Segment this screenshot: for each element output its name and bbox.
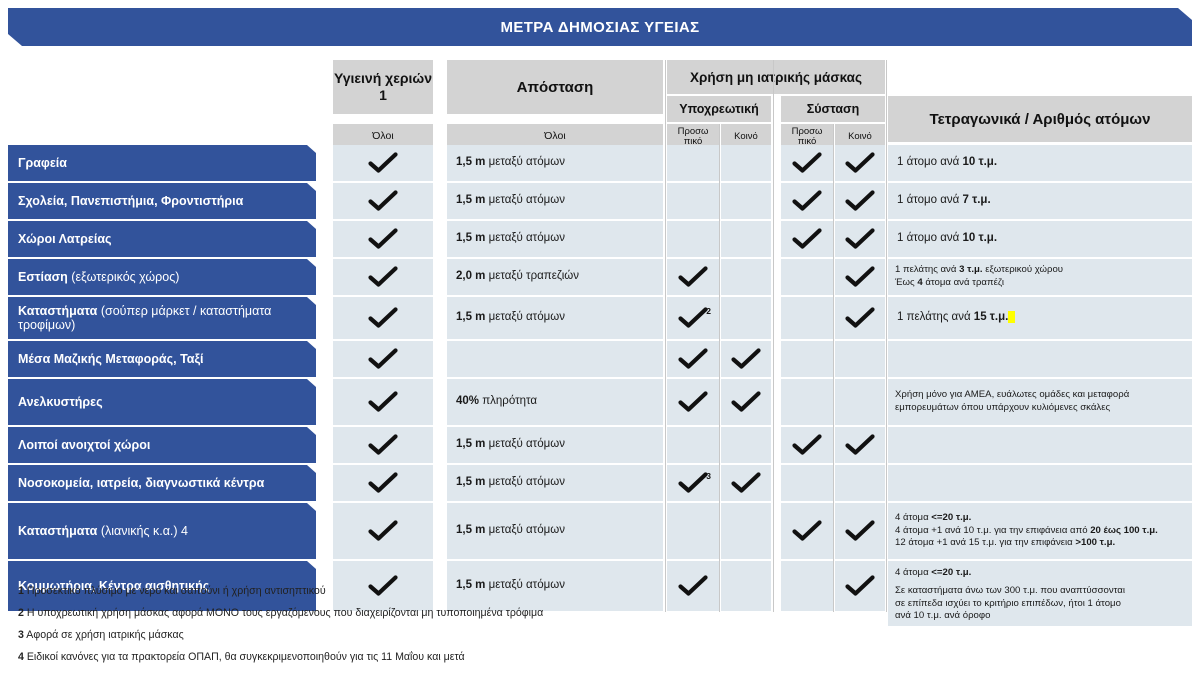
row-label-text: Νοσοκομεία, ιατρεία, διαγνωστικά κέντρα <box>18 476 264 490</box>
page-title: ΜΕΤΡΑ ΔΗΜΟΣΙΑΣ ΥΓΕΙΑΣ <box>500 19 699 36</box>
cell-distance: 40% πληρότητα <box>447 379 663 425</box>
mask-block-rule-right <box>886 60 887 612</box>
header-distance-label: Απόσταση <box>517 79 594 96</box>
header-area-persons: Τετραγωνικά / Αριθμός ατόμων <box>888 96 1192 142</box>
cell-hand-hygiene <box>333 183 433 219</box>
cell-mask-recommended-public <box>835 183 885 219</box>
cell-area-persons-text: 1 άτομο ανά 7 τ.μ. <box>897 193 991 209</box>
header-area-persons-label: Τετραγωνικά / Αριθμός ατόμων <box>930 111 1151 128</box>
cell-mask-mandatory-staff: 3 <box>667 465 719 501</box>
cell-distance-text: 1,5 m μεταξύ ατόμων <box>456 523 565 539</box>
area-footer-line: σε επίπεδα ισχύει το κριτήριο επιπέδων, … <box>895 598 1192 611</box>
header-mask-group-label: Χρήση μη ιατρικής μάσκας <box>690 70 862 85</box>
cell-distance: 1,5 m μεταξύ ατόμων <box>447 503 663 559</box>
cell-mask-mandatory-public <box>721 183 771 219</box>
measures-table: Υγιεινή χεριών 1 Απόσταση Χρήση μη ιατρι… <box>0 52 1200 632</box>
cell-distance-text: 1,5 m μεταξύ ατόμων <box>456 310 565 326</box>
row-label[interactable]: Ανελκυστήρες <box>8 379 316 425</box>
cell-area-persons: 1 άτομο ανά 7 τ.μ. <box>888 183 1192 219</box>
cell-hand-hygiene <box>333 379 433 425</box>
footnote-text: Ειδικοί κανόνες για τα πρακτορεία ΟΠΑΠ, … <box>27 651 465 663</box>
header-hand-hygiene-label: Υγιεινή χεριών 1 <box>333 70 433 105</box>
cell-distance: 1,5 m μεταξύ ατόμων <box>447 183 663 219</box>
check-icon: 2 <box>678 307 708 329</box>
cell-area-persons: 1 άτομο ανά 10 τ.μ. <box>888 221 1192 257</box>
check-icon <box>792 520 822 542</box>
cell-distance: 2,0 m μεταξύ τραπεζιών <box>447 259 663 295</box>
subheader-recommended-public-label: Κοινό <box>848 132 872 142</box>
cell-area-persons <box>888 465 1192 501</box>
cell-mask-mandatory-public <box>721 297 771 339</box>
footnotes: 1 Προσεκτικό πλύσιμο με νερό και σαπούνι… <box>18 585 658 673</box>
row-label[interactable]: Λοιποί ανοιχτοί χώροι <box>8 427 316 463</box>
header-mask-mandatory-label: Υποχρεωτική <box>679 102 758 116</box>
check-icon <box>845 434 875 456</box>
cell-hand-hygiene <box>333 221 433 257</box>
row-label-text: Ανελκυστήρες <box>18 395 103 409</box>
cell-mask-recommended-public <box>835 561 885 611</box>
page-title-banner: ΜΕΤΡΑ ΔΗΜΟΣΙΑΣ ΥΓΕΙΑΣ <box>8 8 1192 46</box>
cell-mask-recommended-public <box>835 259 885 295</box>
cell-area-persons: 1 πελάτης ανά 3 τ.μ. εξωτερικού χώρουΈως… <box>888 259 1192 295</box>
cell-mask-mandatory-staff <box>667 183 719 219</box>
row-label[interactable]: Καταστήματα (λιανικής κ.α.) 4 <box>8 503 316 559</box>
subheader-hands-all-label: Όλοι <box>372 131 393 142</box>
cell-mask-recommended-public <box>835 221 885 257</box>
footnote-item: 4 Ειδικοί κανόνες για τα πρακτορεία ΟΠΑΠ… <box>18 651 658 663</box>
check-icon <box>845 228 875 250</box>
header-distance: Απόσταση <box>447 60 663 114</box>
check-icon <box>731 348 761 370</box>
cell-area-persons-text: 1 άτομο ανά 10 τ.μ. <box>897 231 997 247</box>
cell-area-persons: Χρήση μόνο για ΑΜΕΑ, ευάλωτες ομάδες και… <box>888 379 1192 425</box>
cell-mask-recommended-public <box>835 297 885 339</box>
cell-mask-mandatory-staff <box>667 561 719 611</box>
mask-block-rule-mid3 <box>833 124 834 612</box>
cell-mask-recommended-public <box>835 465 885 501</box>
check-icon <box>368 520 398 542</box>
header-mask-recommended: Σύσταση <box>781 96 885 122</box>
cell-distance: 1,5 m μεταξύ ατόμων <box>447 297 663 339</box>
cell-hand-hygiene <box>333 145 433 181</box>
check-icon: 3 <box>678 472 708 494</box>
row-label-text: Χώροι Λατρείας <box>18 232 112 246</box>
row-label[interactable]: Χώροι Λατρείας <box>8 221 316 257</box>
check-icon <box>845 520 875 542</box>
check-icon <box>368 228 398 250</box>
cell-area-persons <box>888 427 1192 463</box>
check-icon <box>731 472 761 494</box>
header-hand-hygiene: Υγιεινή χεριών 1 <box>333 60 433 114</box>
footnote-item: 1 Προσεκτικό πλύσιμο με νερό και σαπούνι… <box>18 585 658 597</box>
cell-mask-recommended-staff <box>781 259 833 295</box>
cell-mask-recommended-public <box>835 341 885 377</box>
cell-area-persons: 4 άτομα <=20 τ.μ.4 άτομα +1 ανά 10 τ.μ. … <box>888 503 1192 559</box>
cell-mask-recommended-public <box>835 503 885 559</box>
check-icon <box>368 266 398 288</box>
check-icon <box>368 391 398 413</box>
row-label-text: Σχολεία, Πανεπιστήμια, Φροντιστήρια <box>18 194 243 208</box>
subheader-mandatory-staff-label: Προσω πικό <box>667 127 719 147</box>
cell-mask-mandatory-staff: 2 <box>667 297 719 339</box>
footnote-number: 4 <box>18 651 24 663</box>
row-label-text: Λοιποί ανοιχτοί χώροι <box>18 438 150 452</box>
check-icon <box>678 348 708 370</box>
cell-distance <box>447 341 663 377</box>
check-icon <box>731 391 761 413</box>
row-label-text: Εστίαση (εξωτερικός χώρος) <box>18 270 179 284</box>
cell-mask-mandatory-public <box>721 221 771 257</box>
check-icon <box>368 307 398 329</box>
cell-area-persons: 1 πελάτης ανά 15 τ.μ. <box>888 297 1192 339</box>
cell-hand-hygiene <box>333 341 433 377</box>
check-icon <box>368 472 398 494</box>
cell-distance: 1,5 m μεταξύ ατόμων <box>447 221 663 257</box>
cell-mask-mandatory-staff <box>667 221 719 257</box>
check-icon <box>845 575 875 597</box>
cell-mask-mandatory-public <box>721 145 771 181</box>
cell-mask-mandatory-staff <box>667 427 719 463</box>
cell-distance-text: 1,5 m μεταξύ ατόμων <box>456 193 565 209</box>
row-label[interactable]: Νοσοκομεία, ιατρεία, διαγνωστικά κέντρα <box>8 465 316 501</box>
cell-distance-text: 1,5 m μεταξύ ατόμων <box>456 475 565 491</box>
check-icon <box>678 266 708 288</box>
cell-mask-mandatory-public <box>721 379 771 425</box>
highlight-marker <box>1008 311 1014 323</box>
cell-hand-hygiene <box>333 465 433 501</box>
header-mask-mandatory: Υποχρεωτική <box>667 96 771 122</box>
cell-distance: 1,5 m μεταξύ ατόμων <box>447 145 663 181</box>
row-label-text: Γραφεία <box>18 156 67 170</box>
row-label[interactable]: Μέσα Μαζικής Μεταφοράς, Ταξί <box>8 341 316 377</box>
row-label-text: Μέσα Μαζικής Μεταφοράς, Ταξί <box>18 352 204 366</box>
cell-mask-recommended-staff <box>781 183 833 219</box>
cell-hand-hygiene <box>333 259 433 295</box>
footnote-number: 2 <box>18 607 24 619</box>
cell-mask-mandatory-staff <box>667 259 719 295</box>
check-icon <box>845 307 875 329</box>
cell-distance-text: 1,5 m μεταξύ ατόμων <box>456 155 565 171</box>
cell-mask-recommended-staff <box>781 561 833 611</box>
row-label-text: Καταστήματα (λιανικής κ.α.) 4 <box>18 524 188 538</box>
cell-hand-hygiene <box>333 297 433 339</box>
cell-hand-hygiene <box>333 427 433 463</box>
cell-mask-mandatory-public <box>721 503 771 559</box>
area-footer-line: ανά 10 τ.μ. ανά όροφο <box>895 610 1192 623</box>
check-icon <box>678 575 708 597</box>
cell-distance: 1,5 m μεταξύ ατόμων <box>447 427 663 463</box>
subheader-recommended-staff-label: Προσω πικό <box>781 127 833 147</box>
footnote-text: Αφορά σε χρήση ιατρικής μάσκας <box>26 629 183 641</box>
cell-mask-recommended-public <box>835 145 885 181</box>
cell-mask-recommended-staff <box>781 465 833 501</box>
cell-mask-mandatory-staff <box>667 379 719 425</box>
cell-mask-mandatory-staff <box>667 341 719 377</box>
cell-mask-recommended-public <box>835 379 885 425</box>
area-footer-line: Σε καταστήματα άνω των 300 τ.μ. που αναπ… <box>895 585 1192 598</box>
cell-mask-recommended-staff <box>781 145 833 181</box>
row-label[interactable]: Εστίαση (εξωτερικός χώρος) <box>8 259 316 295</box>
area-footer-note: Σε καταστήματα άνω των 300 τ.μ. που αναπ… <box>888 580 1192 626</box>
cell-mask-recommended-staff <box>781 341 833 377</box>
row-label[interactable]: Καταστήματα (σούπερ μάρκετ / καταστήματα… <box>8 297 316 339</box>
footnote-number: 3 <box>18 629 24 641</box>
footnote-text: Προσεκτικό πλύσιμο με νερό και σαπούνι ή… <box>27 585 326 597</box>
row-label[interactable]: Σχολεία, Πανεπιστήμια, Φροντιστήρια <box>8 183 316 219</box>
cell-mask-mandatory-public <box>721 465 771 501</box>
row-label-text: Καταστήματα (σούπερ μάρκετ / καταστήματα… <box>18 304 316 332</box>
cell-area-persons-text: 1 πελάτης ανά 3 τ.μ. εξωτερικού χώρουΈως… <box>895 264 1063 289</box>
mask-block-rule-mid2 <box>773 60 774 612</box>
cell-distance-text: 1,5 m μεταξύ ατόμων <box>456 437 565 453</box>
cell-mask-recommended-staff <box>781 379 833 425</box>
subheader-mandatory-public-label: Κοινό <box>734 132 758 142</box>
cell-mask-recommended-staff <box>781 427 833 463</box>
footnote-text: Η υποχρεωτική χρήση μάσκας αφορά ΜΟΝΟ το… <box>27 607 543 619</box>
check-icon <box>368 348 398 370</box>
check-icon <box>845 190 875 212</box>
cell-distance: 1,5 m μεταξύ ατόμων <box>447 465 663 501</box>
check-icon <box>368 190 398 212</box>
cell-area-persons-text: 4 άτομα <=20 τ.μ.4 άτομα +1 ανά 10 τ.μ. … <box>895 512 1158 550</box>
cell-area-persons-text: 1 πελάτης ανά 15 τ.μ. <box>897 310 1015 326</box>
row-label[interactable]: Γραφεία <box>8 145 316 181</box>
cell-mask-recommended-staff <box>781 221 833 257</box>
footnote-number: 1 <box>18 585 24 597</box>
footnote-item: 3 Αφορά σε χρήση ιατρικής μάσκας <box>18 629 658 641</box>
cell-mask-mandatory-public <box>721 341 771 377</box>
cell-mask-mandatory-staff <box>667 503 719 559</box>
cell-mask-recommended-staff <box>781 503 833 559</box>
footnote-item: 2 Η υποχρεωτική χρήση μάσκας αφορά ΜΟΝΟ … <box>18 607 658 619</box>
check-icon <box>792 228 822 250</box>
check-icon <box>678 391 708 413</box>
mask-block-rule-mid <box>719 124 720 612</box>
cell-area-persons-text: Χρήση μόνο για ΑΜΕΑ, ευάλωτες ομάδες και… <box>895 389 1129 414</box>
cell-hand-hygiene <box>333 503 433 559</box>
check-icon <box>368 434 398 456</box>
cell-area-persons: 1 άτομο ανά 10 τ.μ. <box>888 145 1192 181</box>
check-icon <box>368 152 398 174</box>
cell-area-persons <box>888 341 1192 377</box>
cell-mask-recommended-staff <box>781 297 833 339</box>
check-icon <box>845 266 875 288</box>
cell-mask-mandatory-public <box>721 259 771 295</box>
cell-distance-text: 2,0 m μεταξύ τραπεζιών <box>456 269 579 285</box>
cell-mask-recommended-public <box>835 427 885 463</box>
header-mask-group: Χρήση μη ιατρικής μάσκας <box>667 60 885 94</box>
check-icon <box>792 190 822 212</box>
cell-mask-mandatory-public <box>721 561 771 611</box>
cell-distance-text: 40% πληρότητα <box>456 394 537 410</box>
cell-mask-mandatory-staff <box>667 145 719 181</box>
check-icon <box>792 152 822 174</box>
cell-area-persons-text: 1 άτομο ανά 10 τ.μ. <box>897 155 997 171</box>
check-icon <box>792 434 822 456</box>
mask-block-rule-left <box>665 60 666 612</box>
subheader-distance-all-label: Όλοι <box>544 131 565 142</box>
cell-distance-text: 1,5 m μεταξύ ατόμων <box>456 231 565 247</box>
cell-mask-mandatory-public <box>721 427 771 463</box>
check-icon <box>845 152 875 174</box>
header-mask-recommended-label: Σύσταση <box>807 102 859 116</box>
